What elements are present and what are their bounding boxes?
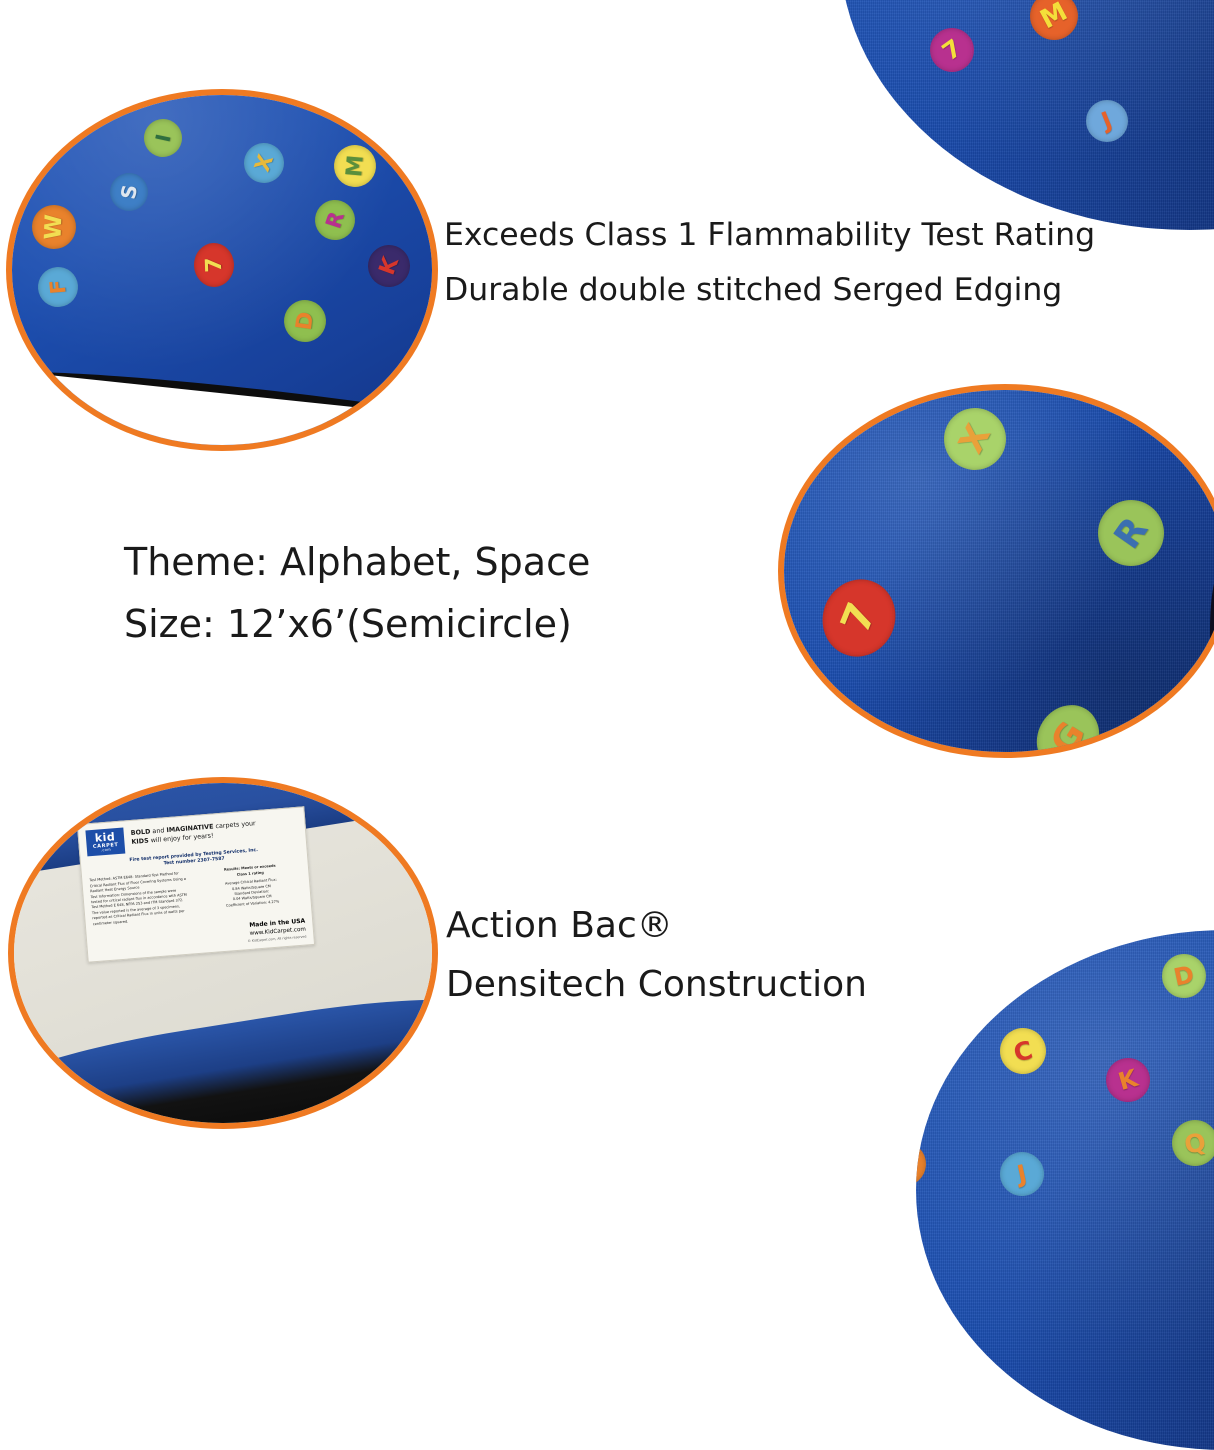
carpet-closeup-top-left: I X M S W R 7 F K D [12, 95, 432, 445]
specs-line-theme: Theme: Alphabet, Space [124, 536, 590, 590]
carpet-corner-top-right: M 7 J O [840, 0, 1214, 230]
tagline-bold-3: KIDS [131, 837, 149, 846]
construction-line-1: Action Bac® [446, 900, 867, 951]
construction-text-block: Action Bac® Densitech Construction [446, 900, 867, 1010]
carpet-closeup-middle-right: X R 7 G [784, 390, 1214, 752]
tag-right-column: Results: Meets or exceeds Class 1 rating… [199, 862, 305, 919]
carpet-corner-bottom-right: D C K Q B J [916, 930, 1214, 1450]
construction-line-2: Densitech Construction [446, 959, 867, 1010]
carpet-texture [840, 0, 1214, 230]
tag-left-column: Test Method: ASTM E648- Standard Test Me… [89, 871, 195, 928]
feature-line-2: Durable double stitched Serged Edging [444, 268, 1095, 313]
carpet-texture [916, 930, 1214, 1450]
tag-tagline: BOLD and IMAGINATIVE carpets your KIDS w… [130, 817, 256, 847]
feature-text-block: Exceeds Class 1 Flammability Test Rating… [444, 213, 1095, 312]
specs-text-block: Theme: Alphabet, Space Size: 12’x6’(Semi… [124, 536, 590, 652]
feature-line-1: Exceeds Class 1 Flammability Test Rating [444, 213, 1095, 258]
tagline-mid: and [150, 826, 167, 835]
specs-line-size: Size: 12’x6’(Semicircle) [124, 598, 590, 652]
tagline-bold-1: BOLD [130, 827, 150, 837]
kid-carpet-logo: kid CARPET .com [85, 828, 125, 856]
carpet-info-tag: kid CARPET .com BOLD and IMAGINATIVE car… [77, 806, 315, 963]
carpet-backing-label-photo: kid CARPET .com BOLD and IMAGINATIVE car… [14, 783, 432, 1123]
